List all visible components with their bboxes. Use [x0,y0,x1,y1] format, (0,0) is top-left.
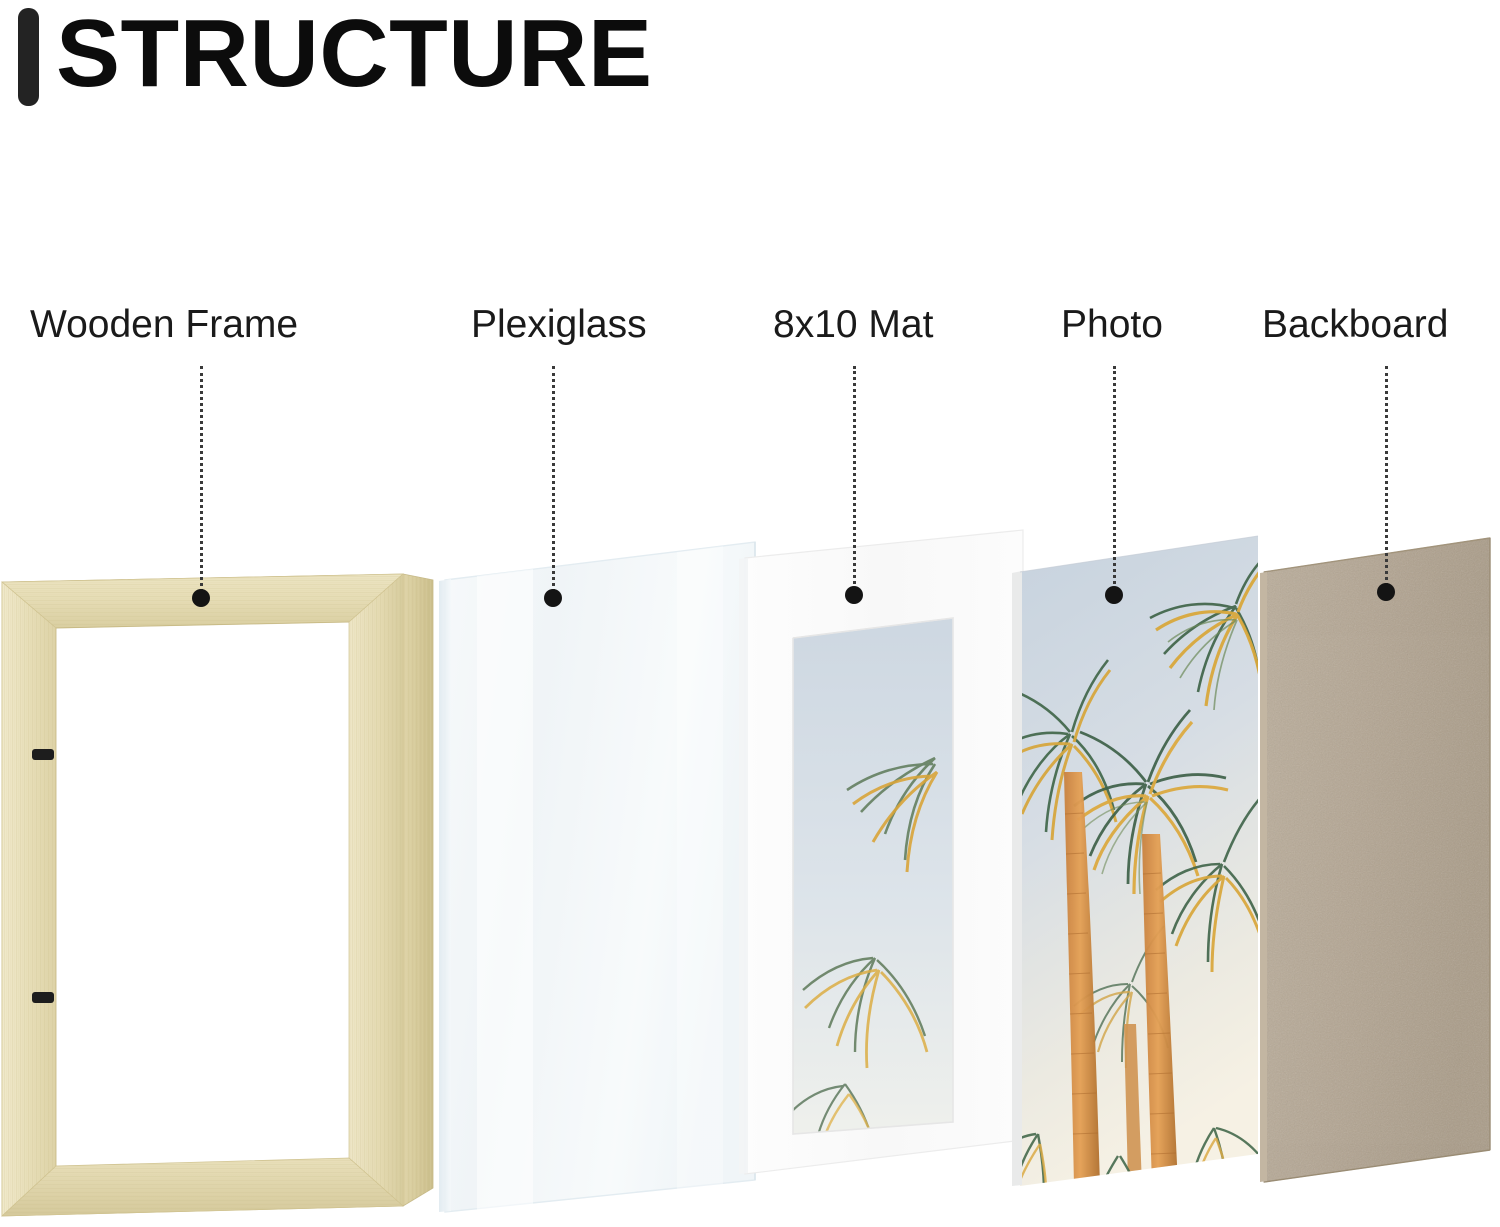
leader-dot-photo [1105,586,1123,604]
leader-dot-backboard [1377,583,1395,601]
exploded-frame-diagram [0,0,1500,1227]
callout-label-backboard: Backboard [1262,303,1448,347]
leader-line-photo [1113,366,1116,595]
leader-line-mat [853,366,856,595]
layer-backboard [1258,536,1500,1194]
plexiglass-left-edge [439,579,451,1212]
frame-clip-lower [32,992,54,1003]
layer-plexiglass [437,540,767,1215]
callout-label-wooden-frame: Wooden Frame [30,303,298,347]
leader-line-wooden-frame [200,366,203,598]
callout-label-photo: Photo [1061,303,1163,347]
leader-line-backboard [1385,366,1388,592]
mat-left-edge [739,558,748,1174]
mat-window-contents [785,608,965,1160]
frame-window-opening [56,622,349,1166]
plexiglass-reflection [477,569,533,1211]
plexiglass-reflection-secondary [677,546,723,1191]
callout-label-mat: 8x10 Mat [773,303,933,347]
layer-wooden-frame [0,556,440,1221]
layer-mat [735,528,1035,1205]
leader-dot-wooden-frame [192,589,210,607]
photo-image [1008,534,1270,1194]
leader-dot-mat [845,586,863,604]
photo-left-edge [1012,571,1022,1186]
callout-label-plexiglass: Plexiglass [471,303,647,347]
layer-photo [1008,534,1270,1194]
leader-line-plexiglass [552,366,555,598]
frame-clip-upper [32,749,54,760]
leader-dot-plexiglass [544,589,562,607]
backboard-left-edge [1260,572,1267,1182]
